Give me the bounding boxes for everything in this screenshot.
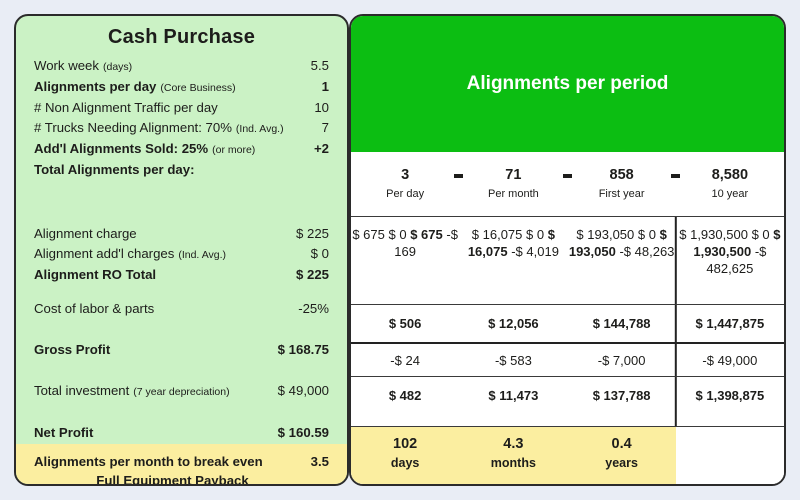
row-alignment-charge: Alignment charge $ 225: [34, 224, 329, 244]
total-investment-first-year: -$ 7,000: [568, 352, 676, 369]
row-alignments-per-day-value[interactable]: 1: [322, 77, 329, 97]
spacer: [34, 319, 329, 333]
period-column-per-day: 3 Per day: [351, 165, 459, 203]
period-value-first-year: 858: [568, 165, 676, 185]
row-non-alignment-traffic-value[interactable]: 10: [314, 98, 329, 118]
payback-label-months: months: [459, 454, 567, 473]
break-even-footer: Alignments per month to break even 3.5 F…: [16, 443, 347, 486]
payback-value-days: 102: [351, 434, 459, 454]
table-row: $ 675 $ 0 $ 675 -$ 169 $ 16,075 $ 0 $ 16…: [351, 216, 784, 304]
total-investment-per-day: -$ 24: [351, 352, 459, 369]
payback-value-months: 4.3: [459, 434, 567, 454]
spacer: [34, 374, 329, 381]
row-addl-alignments-sold-label: Add'l Alignments Sold: 25%: [34, 139, 208, 159]
payback-label-years: years: [568, 454, 676, 473]
row-total-investment-note: (7 year depreciation): [133, 382, 229, 402]
period-label-ten-year: 10 year: [676, 185, 784, 203]
alignment-charge-first-year: $ 193,050: [576, 227, 634, 242]
table-row-total-investment: -$ 24 -$ 583 -$ 7,000 -$ 49,000: [351, 342, 784, 376]
row-alignment-addl-charges-label: Alignment add'l charges: [34, 244, 174, 264]
alignment-charge-per-month: $ 16,075: [472, 227, 523, 242]
row-net-profit-label: Net Profit: [34, 423, 93, 443]
payback-cell-years: 0.4 years: [568, 427, 676, 484]
alignment-addl-charge-first-year: $ 0: [638, 227, 656, 242]
row-total-alignments-per-day-label: Total Alignments per day:: [34, 160, 194, 180]
cash-purchase-body: Cash Purchase Work week (days) 5.5 Align…: [16, 16, 347, 443]
spacer: [34, 333, 329, 340]
row-alignment-charge-label: Alignment charge: [34, 224, 137, 244]
row-addl-alignments-sold: Add'l Alignments Sold: 25% (or more) +2: [34, 139, 329, 160]
spacer: [34, 210, 329, 224]
alignment-addl-charge-ten-year: $ 0: [752, 227, 770, 242]
row-alignment-addl-charges: Alignment add'l charges (Ind. Avg.) $ 0: [34, 244, 329, 265]
period-value-per-month: 71: [459, 165, 567, 185]
row-trucks-needing-alignment-note: (Ind. Avg.): [236, 119, 284, 139]
net-profit-first-year: $ 137,788: [568, 387, 676, 404]
alignment-addl-charge-per-day: $ 0: [388, 227, 406, 242]
spacer: [34, 180, 329, 210]
row-addl-alignments-sold-value[interactable]: +2: [314, 139, 329, 159]
row-total-alignments-per-day: Total Alignments per day:: [34, 160, 329, 180]
row-alignment-ro-total: Alignment RO Total $ 225: [34, 265, 329, 285]
period-column-first-year: 858 First year: [568, 165, 676, 203]
full-equipment-payback-label: Full Equipment Payback: [34, 471, 329, 486]
table-cell-per-day: $ 675 $ 0 $ 675 -$ 169: [351, 226, 459, 260]
row-trucks-needing-alignment-label: # Trucks Needing Alignment: 70%: [34, 118, 232, 138]
row-alignments-per-day-label: Alignments per day: [34, 77, 156, 97]
total-investment-ten-year: -$ 49,000: [676, 352, 784, 369]
net-profit-per-day: $ 482: [351, 387, 459, 404]
row-gross-profit: Gross Profit $ 168.75: [34, 340, 329, 360]
payback-cell-days: 102 days: [351, 427, 459, 484]
row-alignment-ro-total-value: $ 225: [296, 265, 329, 285]
period-label-first-year: First year: [568, 185, 676, 203]
row-alignment-charge-value[interactable]: $ 225: [296, 224, 329, 244]
row-work-week-note: (days): [103, 57, 132, 77]
break-even-value: 3.5: [311, 452, 329, 471]
alignments-per-period-header: Alignments per period: [351, 16, 784, 152]
cost-of-labor-per-month: -$ 4,019: [511, 244, 559, 259]
spacer: [34, 285, 329, 299]
row-trucks-needing-alignment-value[interactable]: 7: [322, 118, 329, 138]
payback-cell-empty: [676, 427, 784, 484]
row-alignments-per-day-note: (Core Business): [160, 78, 235, 98]
payback-footer-row: 102 days 4.3 months 0.4 years: [351, 426, 784, 484]
row-cost-of-labor-label: Cost of labor & parts: [34, 299, 154, 319]
gross-profit-per-month: $ 12,056: [459, 315, 567, 332]
row-net-profit: Net Profit $ 160.59: [34, 423, 329, 443]
period-column-ten-year: 8,580 10 year: [676, 165, 784, 203]
period-value-per-day: 3: [351, 165, 459, 185]
row-alignment-addl-charges-note: (Ind. Avg.): [178, 245, 226, 265]
row-total-investment-label: Total investment: [34, 381, 129, 401]
payback-value-years: 0.4: [568, 434, 676, 454]
break-even-label: Alignments per month to break even: [34, 452, 263, 471]
period-label-per-day: Per day: [351, 185, 459, 203]
row-non-alignment-traffic-label: # Non Alignment Traffic per day: [34, 98, 218, 118]
row-trucks-needing-alignment: # Trucks Needing Alignment: 70% (Ind. Av…: [34, 118, 329, 139]
table-row-gross-profit: $ 506 $ 12,056 $ 144,788 $ 1,447,875: [351, 304, 784, 342]
total-investment-per-month: -$ 583: [459, 352, 567, 369]
cost-of-labor-first-year: -$ 48,263: [619, 244, 674, 259]
alignments-per-period-title: Alignments per period: [467, 73, 669, 95]
row-alignments-per-day: Alignments per day (Core Business) 1: [34, 77, 329, 98]
period-header-row: 3 Per day 71 Per month 858 First year 8,…: [351, 152, 784, 216]
row-gross-profit-value: $ 168.75: [278, 340, 329, 360]
row-work-week-label: Work week: [34, 56, 99, 76]
row-gross-profit-label: Gross Profit: [34, 340, 110, 360]
table-row-net-profit: $ 482 $ 11,473 $ 137,788 $ 1,398,875: [351, 376, 784, 414]
period-label-per-month: Per month: [459, 185, 567, 203]
table-cell-per-month: $ 16,075 $ 0 $ 16,075 -$ 4,019: [459, 226, 567, 260]
cash-purchase-panel: Cash Purchase Work week (days) 5.5 Align…: [14, 14, 349, 486]
worksheet-root: Cash Purchase Work week (days) 5.5 Align…: [0, 0, 800, 500]
alignment-ro-total-per-day: $ 675: [410, 227, 443, 242]
alignment-addl-charge-per-month: $ 0: [526, 227, 544, 242]
period-column-per-month: 71 Per month: [459, 165, 567, 203]
gross-profit-first-year: $ 144,788: [568, 315, 676, 332]
row-net-profit-value: $ 160.59: [278, 423, 329, 443]
row-cost-of-labor: Cost of labor & parts -25%: [34, 299, 329, 319]
spacer: [34, 360, 329, 374]
row-cost-of-labor-value[interactable]: -25%: [298, 299, 329, 319]
alignment-charge-per-day: $ 675: [352, 227, 385, 242]
row-alignment-ro-total-label: Alignment RO Total: [34, 265, 156, 285]
period-values-table: $ 675 $ 0 $ 675 -$ 169 $ 16,075 $ 0 $ 16…: [351, 216, 784, 426]
row-addl-alignments-sold-note: (or more): [212, 140, 255, 160]
alignment-charge-ten-year: $ 1,930,500: [679, 227, 748, 242]
row-alignment-addl-charges-value[interactable]: $ 0: [311, 244, 329, 264]
gross-profit-ten-year: $ 1,447,875: [676, 315, 784, 332]
spacer: [34, 416, 329, 423]
row-total-investment: Total investment (7 year depreciation) $…: [34, 381, 329, 402]
table-cell-first-year: $ 193,050 $ 0 $ 193,050 -$ 48,263: [568, 226, 676, 260]
page-title: Cash Purchase: [34, 26, 329, 49]
table-filler: [351, 414, 784, 426]
net-profit-ten-year: $ 1,398,875: [676, 387, 784, 404]
row-non-alignment-traffic: # Non Alignment Traffic per day 10: [34, 98, 329, 118]
row-work-week: Work week (days) 5.5: [34, 56, 329, 77]
table-cell-ten-year: $ 1,930,500 $ 0 $ 1,930,500 -$ 482,625: [676, 226, 784, 277]
payback-cell-months: 4.3 months: [459, 427, 567, 484]
net-profit-per-month: $ 11,473: [459, 387, 567, 404]
row-work-week-value[interactable]: 5.5: [311, 56, 329, 76]
alignments-per-period-panel: Alignments per period 3 Per day 71 Per m…: [349, 14, 786, 486]
break-even-row: Alignments per month to break even 3.5: [34, 452, 329, 471]
period-value-ten-year: 8,580: [676, 165, 784, 185]
gross-profit-per-day: $ 506: [351, 315, 459, 332]
spacer: [34, 402, 329, 416]
payback-label-days: days: [351, 454, 459, 473]
row-total-investment-value[interactable]: $ 49,000: [278, 381, 329, 401]
